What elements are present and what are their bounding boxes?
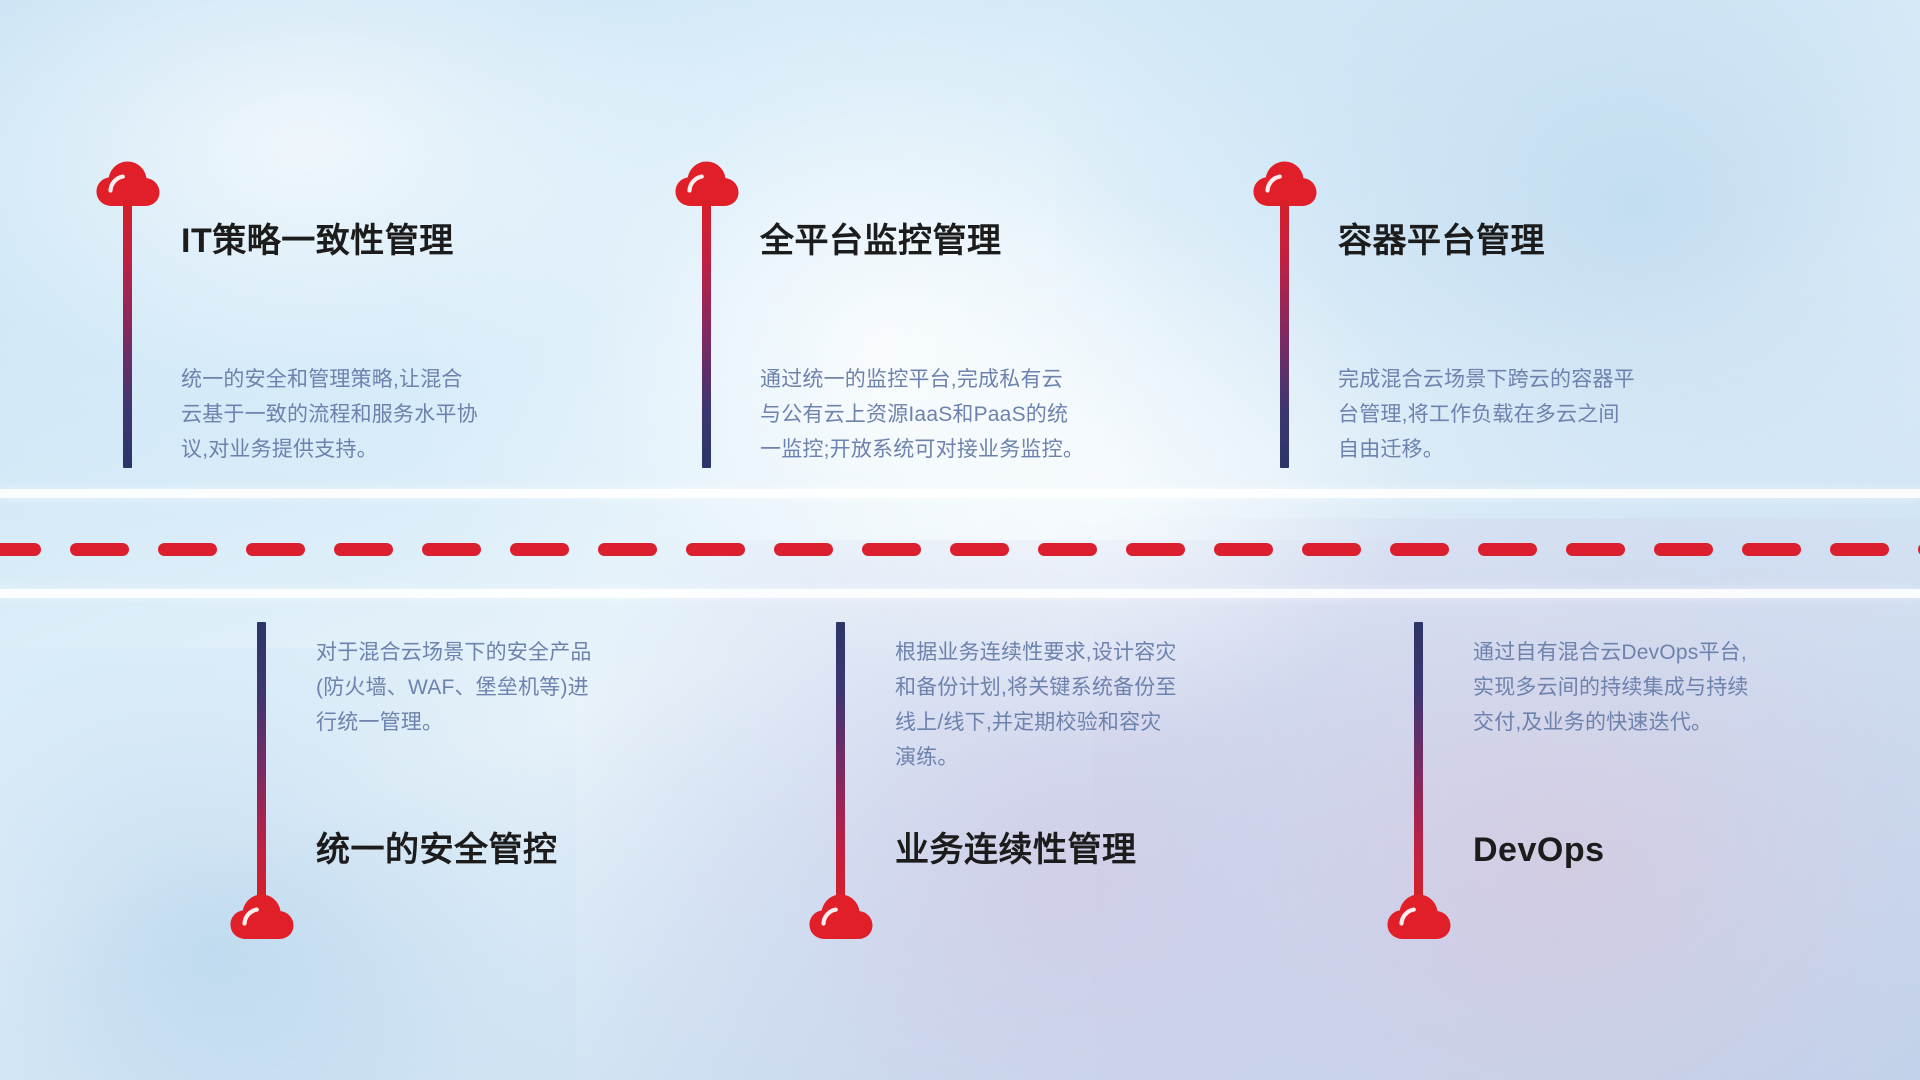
connector-stem bbox=[123, 200, 132, 468]
top-item-heading: IT策略一致性管理 bbox=[181, 224, 454, 258]
divider-dash-segment bbox=[950, 543, 1009, 556]
infographic-stage: IT策略一致性管理 统一的安全和管理策略,让混合 云基于一致的流程和服务水平协 … bbox=[0, 0, 1920, 1080]
divider-dash-segment bbox=[1566, 543, 1625, 556]
cloud-icon bbox=[1386, 893, 1452, 941]
connector-stem bbox=[1414, 622, 1423, 907]
bottom-item-body: 对于混合云场景下的安全产品 (防火墙、WAF、堡垒机等)进 行统一管理。 bbox=[316, 635, 736, 740]
connector-stem bbox=[702, 200, 711, 468]
connector-stem bbox=[836, 622, 845, 907]
cloud-icon bbox=[229, 893, 295, 941]
top-item-body: 统一的安全和管理策略,让混合 云基于一致的流程和服务水平协 议,对业务提供支持。 bbox=[181, 362, 611, 467]
divider-dash-segment bbox=[1214, 543, 1273, 556]
divider-dash-segment bbox=[1302, 543, 1361, 556]
divider-dash-segment bbox=[774, 543, 833, 556]
divider-dash-segment bbox=[686, 543, 745, 556]
divider-dash-segment bbox=[598, 543, 657, 556]
divider-dash-segment bbox=[1742, 543, 1801, 556]
divider-dash-segment bbox=[510, 543, 569, 556]
divider-dashed-red bbox=[0, 543, 1920, 556]
divider-rule-bottom bbox=[0, 589, 1920, 598]
divider-dash-segment bbox=[422, 543, 481, 556]
divider-dash-segment bbox=[1478, 543, 1537, 556]
bottom-item-body: 通过自有混合云DevOps平台, 实现多云间的持续集成与持续 交付,及业务的快速… bbox=[1473, 635, 1893, 740]
top-item-body: 通过统一的监控平台,完成私有云 与公有云上资源IaaS和PaaS的统 一监控;开… bbox=[760, 362, 1210, 467]
divider-dash-segment bbox=[70, 543, 129, 556]
top-item-heading: 全平台监控管理 bbox=[760, 224, 1002, 258]
divider-dash-segment bbox=[334, 543, 393, 556]
bottom-item-heading: DevOps bbox=[1473, 833, 1605, 867]
top-item-heading: 容器平台管理 bbox=[1338, 224, 1545, 258]
divider-dash-segment bbox=[158, 543, 217, 556]
cloud-icon bbox=[808, 893, 874, 941]
divider-dash-segment bbox=[246, 543, 305, 556]
top-item-body: 完成混合云场景下跨云的容器平 台管理,将工作负载在多云之间 自由迁移。 bbox=[1338, 362, 1768, 467]
bottom-item-heading: 业务连续性管理 bbox=[895, 833, 1137, 867]
connector-stem bbox=[1280, 200, 1289, 468]
divider-dash-segment bbox=[1390, 543, 1449, 556]
divider-dash-segment bbox=[1126, 543, 1185, 556]
divider-dash-segment bbox=[1830, 543, 1889, 556]
divider-rule-top bbox=[0, 489, 1920, 498]
connector-stem bbox=[257, 622, 266, 907]
divider-dash-segment bbox=[0, 543, 41, 556]
bottom-item-body: 根据业务连续性要求,设计容灾 和备份计划,将关键系统备份至 线上/线下,并定期校… bbox=[895, 635, 1325, 775]
divider-dash-segment bbox=[862, 543, 921, 556]
bottom-item-heading: 统一的安全管控 bbox=[316, 833, 558, 867]
divider-dash-segment bbox=[1654, 543, 1713, 556]
divider-dash-segment bbox=[1038, 543, 1097, 556]
